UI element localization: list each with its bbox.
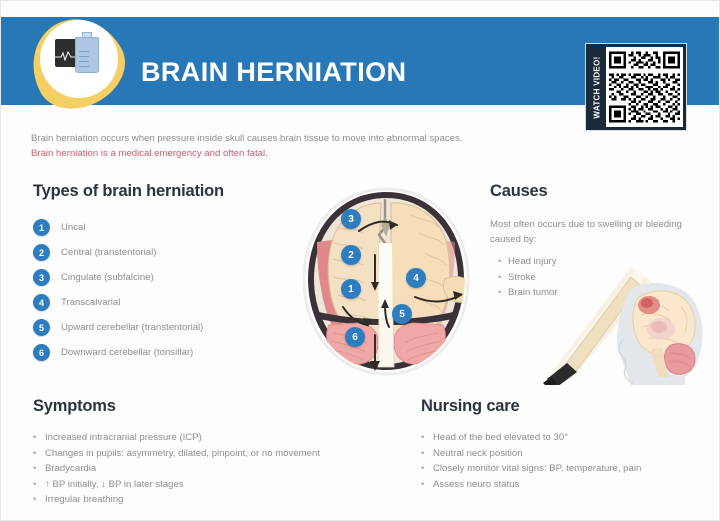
nursing-care-item-label: Assess neuro status (433, 477, 519, 493)
herniation-type-number-badge: 6 (33, 344, 50, 361)
symptoms-list: •Increased intracranial pressure (ICP)•C… (33, 430, 403, 508)
symptom-item: •Bradycardia (33, 461, 403, 477)
herniation-type-number-badge: 1 (33, 219, 50, 236)
herniation-type-number-badge: 5 (33, 319, 50, 336)
intro-description: Brain herniation occurs when pressure in… (31, 131, 591, 146)
symptom-item-label: Changes in pupils: asymmetry, dilated, p… (45, 446, 320, 462)
iv-bag-tick (79, 51, 89, 52)
page-title: BRAIN HERNIATION (141, 57, 406, 88)
bullet-icon: • (33, 477, 45, 493)
herniation-type-label: Downward cerebellar (tonsillar) (61, 347, 193, 358)
symptoms-section: Symptoms •Increased intracranial pressur… (33, 397, 403, 508)
symptom-item-label: Irregular breathing (45, 492, 123, 508)
symptom-item-label: ↑ BP initially, ↓ BP in later stages (45, 477, 184, 493)
diagram-marker-2: 2 (341, 245, 361, 265)
head-trauma-bat-illustration (535, 253, 720, 385)
nursing-care-item: •Closely monitor vital signs: BP, temper… (421, 461, 701, 477)
herniation-type-number-badge: 3 (33, 269, 50, 286)
symptom-item-label: Increased intracranial pressure (ICP) (45, 430, 202, 446)
nursing-care-item-label: Neutral neck position (433, 446, 523, 462)
bullet-icon: • (498, 285, 508, 301)
nursing-care-list: •Head of the bed elevated to 30°•Neutral… (421, 430, 701, 492)
symptom-item: •Irregular breathing (33, 492, 403, 508)
qr-code-icon[interactable] (606, 47, 683, 127)
iv-bag-tick (79, 56, 89, 57)
brand-logo (27, 11, 131, 115)
symptom-item-label: Bradycardia (45, 461, 96, 477)
symptoms-heading: Symptoms (33, 397, 403, 416)
bullet-icon: • (33, 492, 45, 508)
bullet-icon: • (33, 446, 45, 462)
causes-intro-text: Most often occurs due to swelling or ble… (490, 217, 700, 247)
bullet-icon: • (421, 430, 433, 446)
iv-bag-icon (75, 37, 99, 73)
types-heading: Types of brain herniation (33, 182, 283, 201)
brain-coronal-cross-section-diagram: 3 2 1 4 5 6 (293, 187, 479, 377)
diagram-marker-4: 4 (406, 268, 426, 288)
bullet-icon: • (421, 446, 433, 462)
nursing-care-section: Nursing care •Head of the bed elevated t… (421, 397, 701, 492)
herniation-type-row: 1Uncal (33, 215, 283, 240)
symptom-item: •Increased intracranial pressure (ICP) (33, 430, 403, 446)
herniation-type-label: Central (transtentorial) (61, 247, 156, 258)
bullet-icon: • (33, 430, 45, 446)
herniation-type-row: 4Transcalvarial (33, 290, 283, 315)
intro-paragraph: Brain herniation occurs when pressure in… (31, 131, 591, 161)
symptom-item: •Changes in pupils: asymmetry, dilated, … (33, 446, 403, 462)
watch-video-qr-badge[interactable]: WATCH VIDEO! (585, 43, 687, 131)
nursing-care-item: •Head of the bed elevated to 30° (421, 430, 701, 446)
diagram-marker-1: 1 (341, 279, 361, 299)
types-section: Types of brain herniation 1Uncal2Central… (33, 182, 283, 365)
herniation-type-label: Cingulate (subfalcine) (61, 272, 154, 283)
bullet-icon: • (421, 477, 433, 493)
herniation-type-row: 6Downward cerebellar (tonsillar) (33, 340, 283, 365)
cause-item-label: Stroke (508, 270, 536, 286)
herniation-type-number-badge: 2 (33, 244, 50, 261)
intro-emergency-warning: Brain herniation is a medical emergency … (31, 146, 591, 161)
diagram-marker-5: 5 (392, 304, 412, 324)
symptom-item: •↑ BP initially, ↓ BP in later stages (33, 477, 403, 493)
watch-video-text: WATCH VIDEO! (593, 56, 602, 118)
bullet-icon: • (498, 254, 508, 270)
nursing-care-item-label: Head of the bed elevated to 30° (433, 430, 568, 446)
herniation-type-label: Uncal (61, 222, 86, 233)
bullet-icon: • (498, 270, 508, 286)
nursing-care-heading: Nursing care (421, 397, 701, 416)
iv-bag-tick (79, 61, 89, 62)
herniation-type-row: 3Cingulate (subfalcine) (33, 265, 283, 290)
nursing-care-item: •Neutral neck position (421, 446, 701, 462)
nursing-care-item-label: Closely monitor vital signs: BP, tempera… (433, 461, 641, 477)
header-banner: BRAIN HERNIATION WATCH VIDEO! (1, 17, 720, 105)
infographic-page: BRAIN HERNIATION WATCH VIDEO! (0, 0, 720, 521)
nursing-care-item: •Assess neuro status (421, 477, 701, 493)
bullet-icon: • (33, 461, 45, 477)
herniation-type-row: 5Upward cerebellar (transtentorial) (33, 315, 283, 340)
diagram-marker-6: 6 (345, 327, 365, 347)
types-list: 1Uncal2Central (transtentorial)3Cingulat… (33, 215, 283, 365)
watch-video-label: WATCH VIDEO! (589, 47, 606, 127)
iv-bag-tick (79, 66, 89, 67)
causes-heading: Causes (490, 182, 700, 201)
bullet-icon: • (421, 461, 433, 477)
diagram-marker-3: 3 (341, 209, 361, 229)
herniation-type-number-badge: 4 (33, 294, 50, 311)
herniation-type-label: Transcalvarial (61, 297, 120, 308)
herniation-type-label: Upward cerebellar (transtentorial) (61, 322, 203, 333)
herniation-type-row: 2Central (transtentorial) (33, 240, 283, 265)
